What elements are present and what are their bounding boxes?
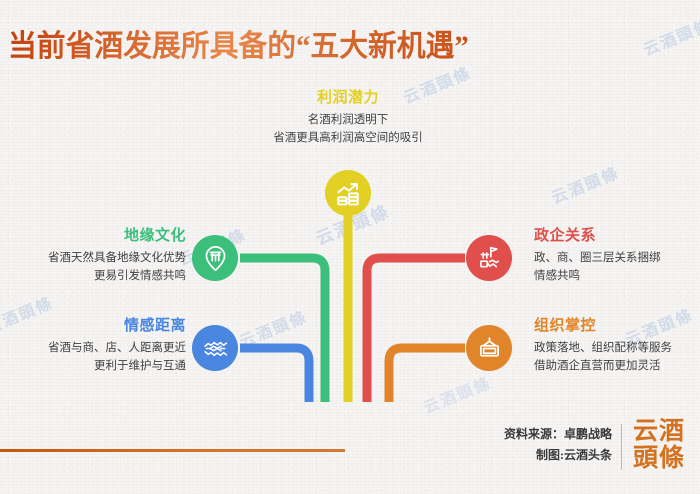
node-profit[interactable] [325,170,371,216]
block-org: 组织掌控 政策落地、组织配称等服务 借助酒企直营而更加灵活 [534,316,700,375]
profit-line1: 名酒利润透明下 [200,111,496,129]
footer-vertical-divider [621,424,622,470]
logo-line-1: 云酒 [626,419,692,446]
location-pin-gate-icon [201,244,230,273]
gov-heading: 政企关系 [534,226,700,244]
emotion-line2: 更利于维护与互通 [0,357,186,375]
wire-emotion [240,348,309,402]
org-line2: 借助酒企直营而更加灵活 [534,357,700,375]
source-line: 资料来源：卓鹏战略 [504,424,612,445]
node-gov[interactable] [466,235,512,281]
gov-line1: 政、商、圈三层关系捆绑 [534,249,700,267]
block-geo: 地缘文化 省酒天然具备地缘文化优势 更易引发情感共鸣 [0,226,186,285]
emotion-line1: 省酒与商、店、人距离更近 [0,339,186,357]
credit-line: 制图:云酒头条 [504,445,612,466]
infographic-canvas: 云酒頭條 云酒頭條 云酒頭條 云酒頭條 云酒頭條 云酒頭條 云酒頭條 云酒頭條 … [0,0,700,494]
wire-org [389,348,465,402]
geo-line1: 省酒天然具备地缘文化优势 [0,249,186,267]
block-emotion: 情感距离 省酒与商、店、人距离更近 更利于维护与互通 [0,316,186,375]
wire-gov [367,258,465,402]
node-org[interactable] [466,325,512,371]
geo-line2: 更易引发情感共鸣 [0,267,186,285]
handshake-network-icon [201,334,230,363]
emotion-heading: 情感距离 [0,316,186,334]
org-line1: 政策落地、组织配称等服务 [534,339,700,357]
growth-chart-coins-icon [333,178,363,208]
node-geo[interactable] [192,235,238,281]
node-emotion[interactable] [192,325,238,371]
government-handshake-icon [475,244,504,273]
source-credit: 资料来源：卓鹏战略 制图:云酒头条 [504,424,612,466]
brand-logo: 云酒 頭條 [626,419,692,472]
block-profit: 利润潜力 名酒利润透明下 省酒更具高利润高空间的吸引 [200,88,496,147]
logo-line-2: 頭條 [626,446,692,473]
gov-line2: 情感共鸣 [534,267,700,285]
profit-line2: 省酒更具高利润高空间的吸引 [200,129,496,147]
profit-heading: 利润潜力 [200,88,496,106]
block-gov: 政企关系 政、商、圈三层关系捆绑 情感共鸣 [534,226,700,285]
footer-divider-rule [0,449,345,452]
geo-heading: 地缘文化 [0,226,186,244]
sale-sign-icon [475,334,504,363]
org-heading: 组织掌控 [534,316,700,334]
